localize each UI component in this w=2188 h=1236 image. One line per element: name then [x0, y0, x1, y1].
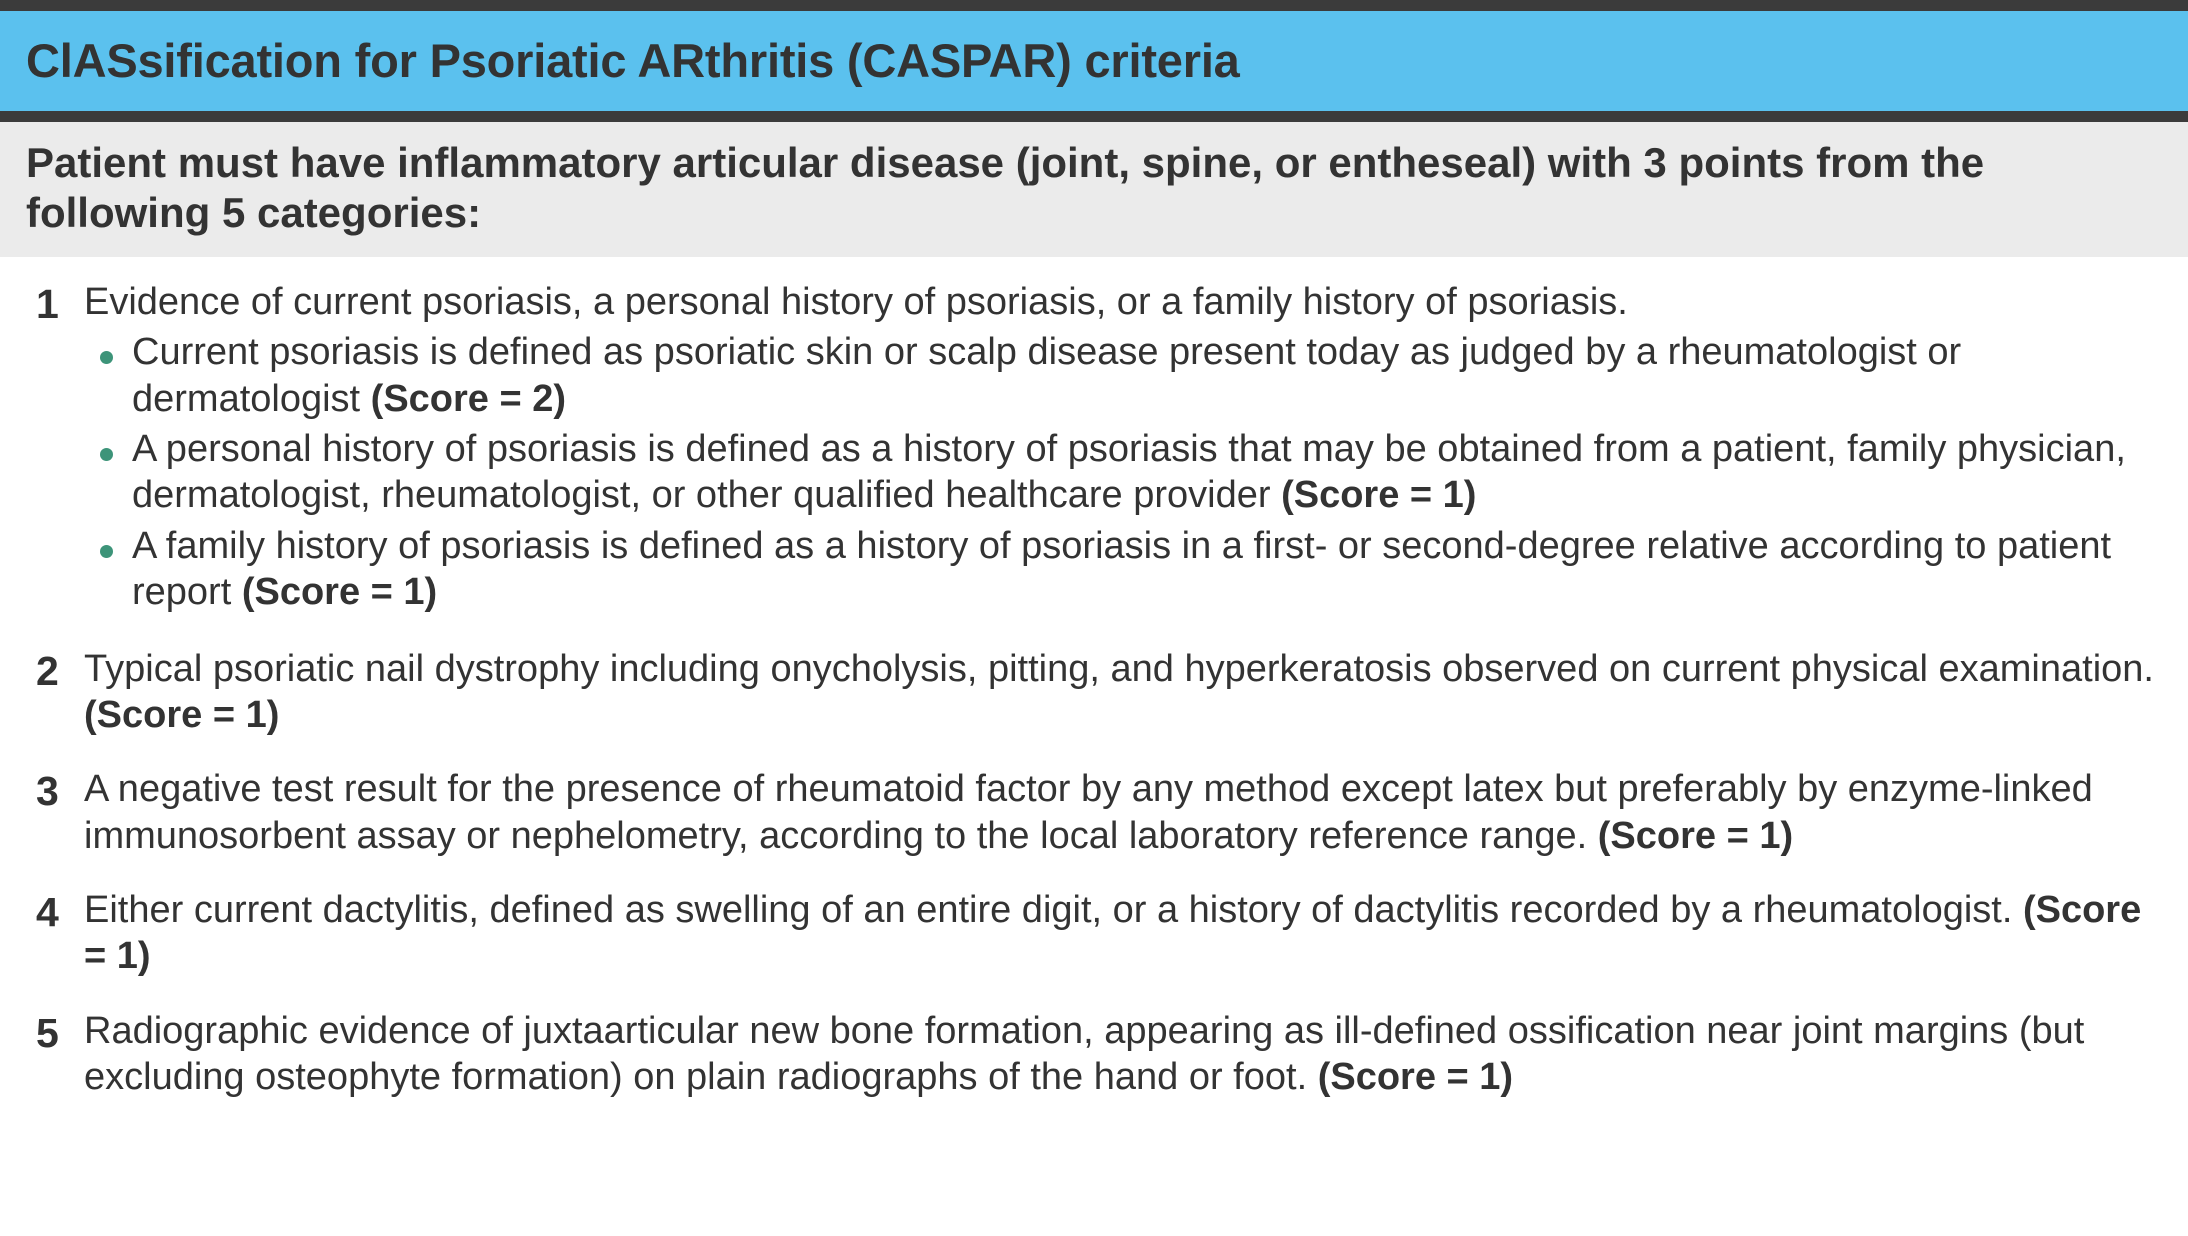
score-badge: (Score = 1): [1318, 1056, 1513, 1098]
criterion-body: Either current dactylitis, defined as sw…: [84, 887, 2166, 980]
score-badge: (Score = 1): [1598, 815, 1793, 857]
criterion-row: 5 Radiographic evidence of juxtaarticula…: [22, 1008, 2166, 1101]
criterion-body-text: Typical psoriatic nail dystrophy includi…: [84, 648, 2154, 690]
score-badge: (Score = 2): [371, 378, 566, 420]
criterion-text: Radiographic evidence of juxtaarticular …: [84, 1008, 2166, 1101]
score-badge: (Score = 1): [1281, 474, 1476, 516]
list-item: A family history of psoriasis is defined…: [84, 523, 2166, 616]
bullet-dot-icon: [84, 329, 132, 364]
subbullet-text: A personal history of psoriasis is defin…: [132, 426, 2166, 519]
bullet-dot-icon: [84, 523, 132, 558]
criterion-body: A negative test result for the presence …: [84, 766, 2166, 859]
criterion-number: 5: [22, 1008, 84, 1058]
criterion-text: Typical psoriatic nail dystrophy includi…: [84, 646, 2166, 739]
criterion-body-text: Radiographic evidence of juxtaarticular …: [84, 1010, 2084, 1098]
criterion-body: Radiographic evidence of juxtaarticular …: [84, 1008, 2166, 1101]
criterion-row: 2 Typical psoriatic nail dystrophy inclu…: [22, 646, 2166, 739]
score-badge: (Score = 1): [84, 694, 279, 736]
criterion-number: 4: [22, 887, 84, 937]
list-item: A personal history of psoriasis is defin…: [84, 426, 2166, 519]
subbullet-text: A family history of psoriasis is defined…: [132, 523, 2166, 616]
criteria-list: 1 Evidence of current psoriasis, a perso…: [0, 257, 2188, 1100]
subbullet-text: Current psoriasis is defined as psoriati…: [132, 329, 2166, 422]
score-badge: (Score = 1): [242, 571, 437, 613]
criteria-instruction: Patient must have inflammatory articular…: [26, 138, 2106, 237]
criterion-row: 1 Evidence of current psoriasis, a perso…: [22, 279, 2166, 616]
criterion-text: Either current dactylitis, defined as sw…: [84, 887, 2166, 980]
criterion-row: 3 A negative test result for the presenc…: [22, 766, 2166, 859]
bullet-dot-icon: [84, 426, 132, 461]
criterion-number: 1: [22, 279, 84, 329]
criterion-text: Evidence of current psoriasis, a persona…: [84, 279, 2166, 325]
criterion-subbullets: Current psoriasis is defined as psoriati…: [84, 329, 2166, 615]
criterion-number: 3: [22, 766, 84, 816]
criterion-body: Evidence of current psoriasis, a persona…: [84, 279, 2166, 616]
criterion-body: Typical psoriatic nail dystrophy includi…: [84, 646, 2166, 739]
page-title: ClASsification for Psoriatic ARthritis (…: [26, 36, 1240, 85]
criterion-number: 2: [22, 646, 84, 696]
title-band: ClASsification for Psoriatic ARthritis (…: [0, 11, 2188, 122]
criterion-text: A negative test result for the presence …: [84, 766, 2166, 859]
caspar-criteria-table: ClASsification for Psoriatic ARthritis (…: [0, 0, 2188, 1236]
criterion-body-text: Either current dactylitis, defined as sw…: [84, 889, 2023, 931]
subtitle-band: Patient must have inflammatory articular…: [0, 122, 2188, 257]
criterion-row: 4 Either current dactylitis, defined as …: [22, 887, 2166, 980]
subbullet-body: A personal history of psoriasis is defin…: [132, 428, 2126, 516]
list-item: Current psoriasis is defined as psoriati…: [84, 329, 2166, 422]
